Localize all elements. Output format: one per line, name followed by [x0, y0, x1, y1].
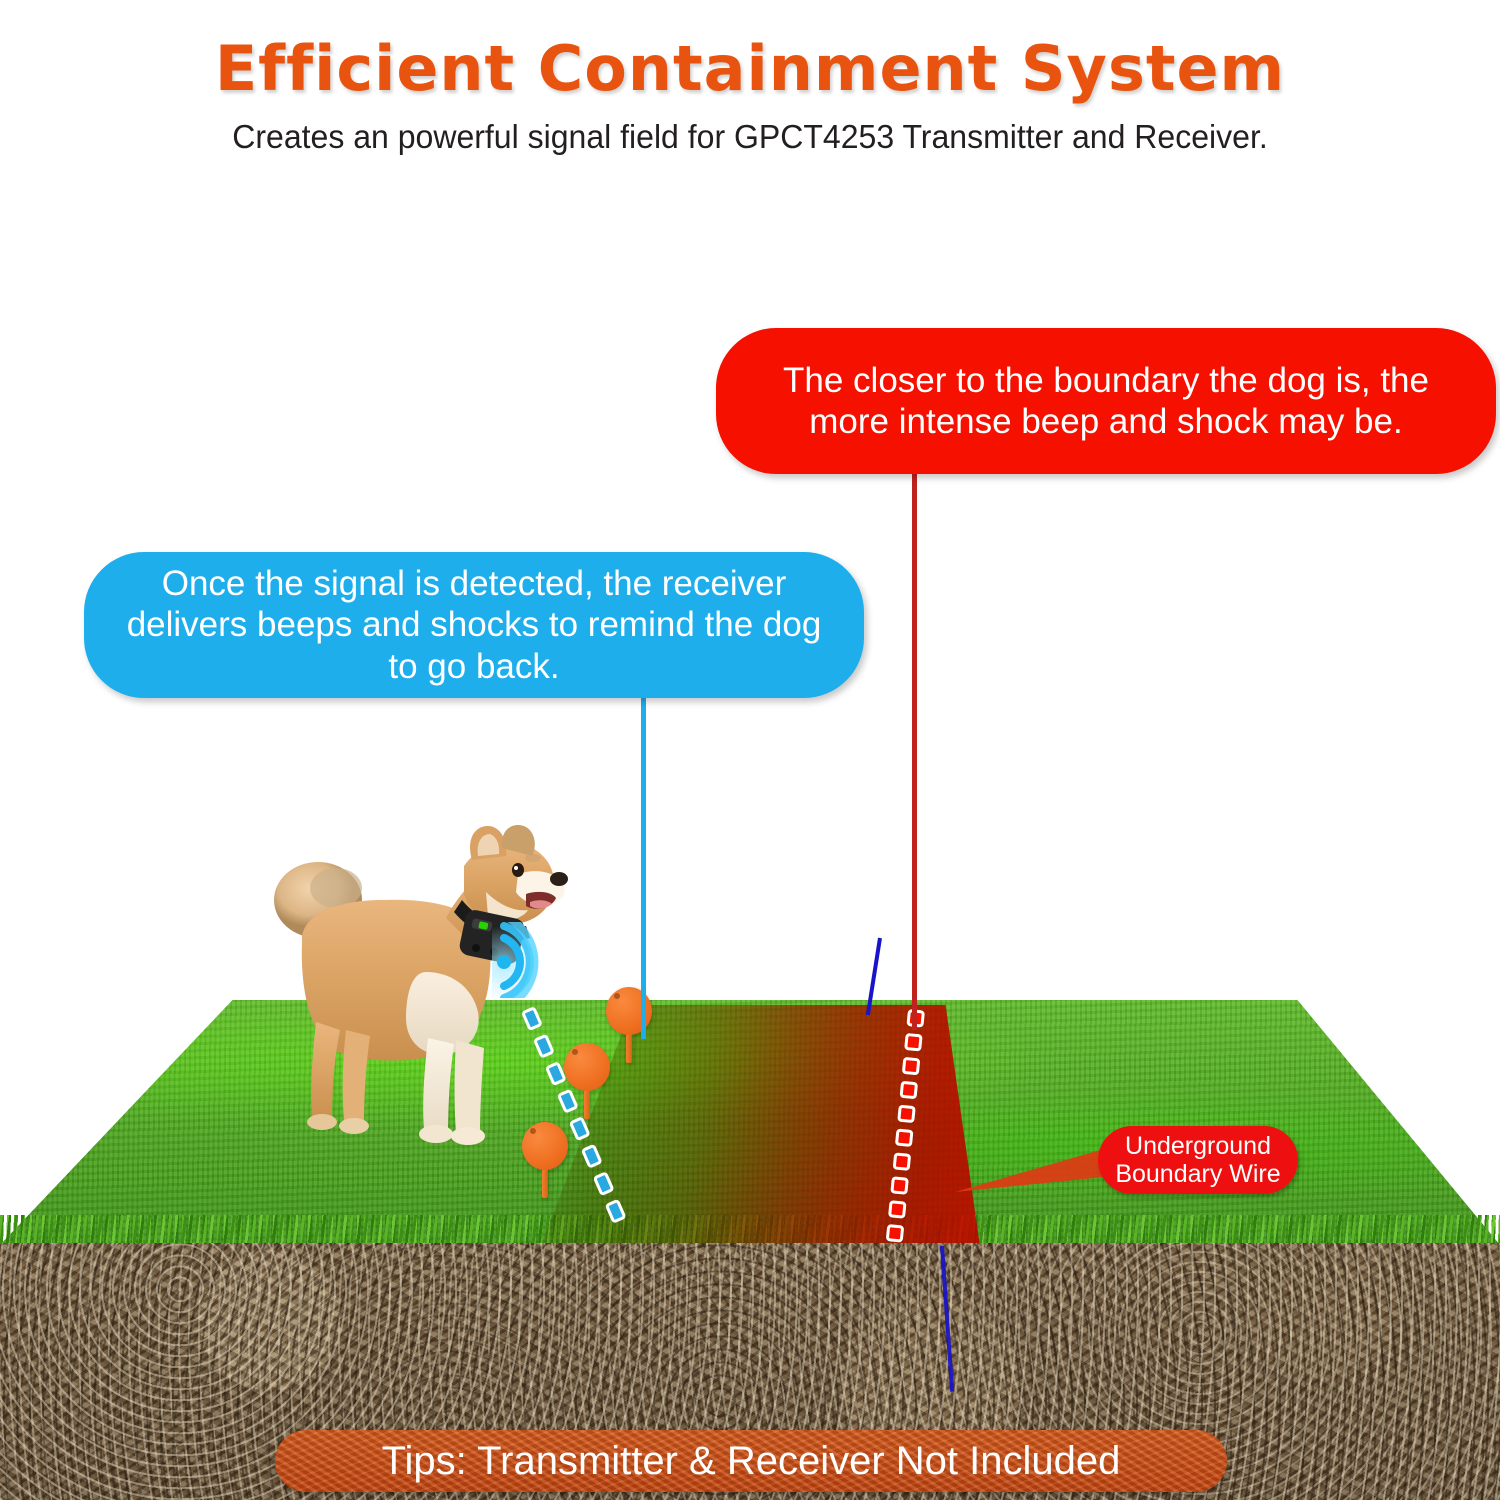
- dog-eye: [512, 863, 524, 877]
- dog-leg-front-right: [455, 1040, 485, 1136]
- dog-leg-rear-right: [343, 1030, 370, 1126]
- containment-diagram: Underground Boundary Wire: [0, 0, 1500, 1500]
- dog-leg-rear-left: [311, 1022, 340, 1122]
- dog-paw: [307, 1114, 337, 1130]
- red-callout-leader-line: [912, 470, 917, 1030]
- tips-banner: Tips: Transmitter & Receiver Not Include…: [275, 1430, 1227, 1492]
- callout-receiver-behavior: Once the signal is detected, the receive…: [84, 552, 864, 698]
- dog-paw: [419, 1125, 453, 1143]
- wire-segment: [895, 1128, 914, 1147]
- signal-waves-icon: [492, 922, 570, 998]
- wire-segment: [904, 1033, 923, 1052]
- wire-segment: [902, 1057, 921, 1076]
- dog-leg-front-left: [423, 1038, 454, 1134]
- blue-callout-leader-line: [641, 694, 646, 1039]
- dog-paw: [339, 1118, 369, 1134]
- wire-segment: [897, 1105, 916, 1124]
- callout-boundary-intensity: The closer to the boundary the dog is, t…: [716, 328, 1496, 474]
- dog-paw: [451, 1127, 485, 1145]
- underground-wire-label: Underground Boundary Wire: [1098, 1126, 1298, 1194]
- wire-segment: [888, 1200, 907, 1219]
- wire-segment: [890, 1176, 909, 1195]
- wire-segment: [886, 1224, 905, 1243]
- wire-segment: [893, 1152, 912, 1171]
- wire-segment: [900, 1081, 919, 1100]
- dog-nose: [550, 872, 568, 886]
